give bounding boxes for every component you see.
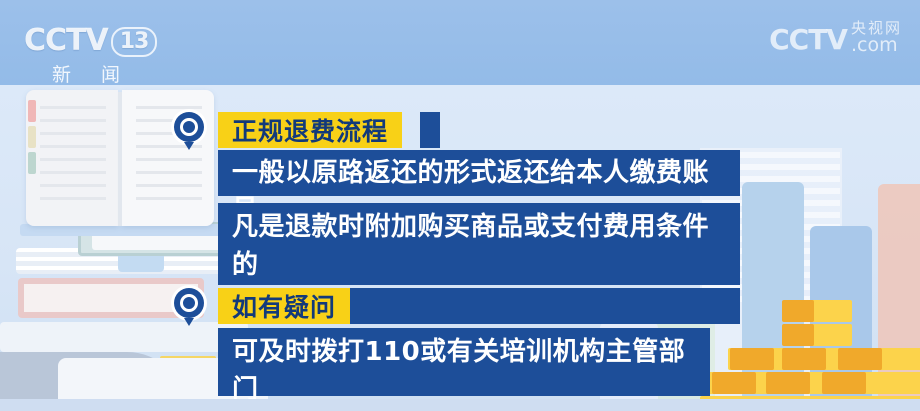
cctv-com-watermark: CCTV 央视网 .com — [769, 20, 902, 55]
logo-cctv-text: CCTV — [24, 23, 108, 58]
pin-dot — [185, 299, 193, 307]
pin-ring — [174, 288, 204, 318]
broadcast-screenshot: CCTV13 新 闻 CCTV 央视网 .com 正规退费流程 一般以原路返还的… — [0, 0, 920, 411]
book-spine — [118, 92, 122, 226]
gold-bar — [838, 348, 882, 370]
gold-bar — [730, 348, 774, 370]
book-text-lines — [40, 106, 106, 210]
watermark-tld: .com — [851, 36, 898, 55]
cctv13-logo: CCTV13 新 闻 — [24, 26, 160, 78]
section1-line1: 一般以原路返还的形式返还给本人缴费账号 — [218, 150, 740, 196]
book-tab — [28, 100, 36, 122]
book-tab — [28, 152, 36, 174]
book-stack-pages — [24, 284, 198, 312]
gold-bar — [822, 372, 866, 394]
gold-bar — [782, 300, 814, 322]
gold-bar — [782, 324, 814, 346]
logo-subtitle: 新 闻 — [24, 60, 160, 87]
section1-line2: 凡是退款时附加购买商品或支付费用条件的 都是诈骗 — [218, 203, 740, 285]
pin-ring — [174, 112, 204, 142]
gold-bar — [712, 372, 756, 394]
watermark-brand: CCTV — [769, 25, 847, 55]
watermark-row: CCTV 央视网 .com — [769, 20, 902, 55]
pin-tip — [184, 318, 194, 326]
bottom-strip — [0, 399, 920, 411]
logo-channel-number: 13 — [111, 27, 158, 57]
section1-heading-tail — [420, 112, 440, 148]
location-pin-icon-2 — [174, 288, 204, 326]
logo-main-row: CCTV13 — [24, 26, 160, 57]
book-tab — [28, 126, 36, 148]
book-stack-item — [0, 322, 248, 352]
pin-tip — [184, 142, 194, 150]
section1-line2-a: 凡是退款时附加购买商品或支付费用条件的 — [232, 212, 709, 280]
pin-dot — [185, 123, 193, 131]
watermark-right: 央视网 .com — [851, 20, 902, 55]
section2-heading-tail — [350, 288, 740, 324]
section2-line1-a: 可及时拨打110或有关培训机构主管部门 — [232, 337, 685, 405]
gold-bar — [766, 372, 810, 394]
section1-heading: 正规退费流程 — [218, 112, 402, 148]
section2-heading: 如有疑问 — [218, 288, 350, 324]
gold-bar — [782, 348, 826, 370]
section2-line1: 可及时拨打110或有关培训机构主管部门 电话求证 求助 — [218, 328, 710, 396]
location-pin-icon-1 — [174, 112, 204, 150]
